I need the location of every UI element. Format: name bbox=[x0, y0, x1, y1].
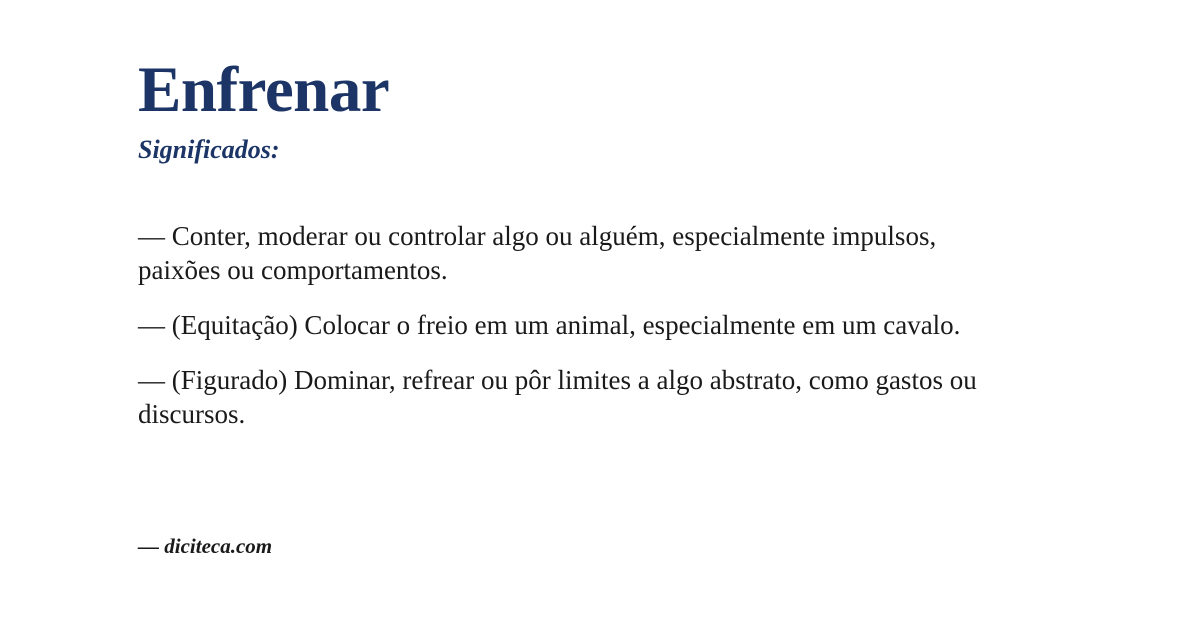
source-attribution: — diciteca.com bbox=[138, 534, 272, 559]
dictionary-entry-card: Enfrenar Significados: — Conter, moderar… bbox=[0, 0, 1200, 628]
definition-item: — (Figurado) Dominar, refrear ou pôr lim… bbox=[138, 363, 1018, 431]
meanings-label: Significados: bbox=[138, 123, 1038, 163]
definition-list: — Conter, moderar ou controlar algo ou a… bbox=[138, 163, 1038, 431]
entry-content: Enfrenar Significados: — Conter, moderar… bbox=[138, 0, 1038, 431]
definition-item: — (Equitação) Colocar o freio em um anim… bbox=[138, 308, 1018, 342]
definition-item: — Conter, moderar ou controlar algo ou a… bbox=[138, 219, 1018, 287]
page-title: Enfrenar bbox=[138, 0, 1038, 123]
